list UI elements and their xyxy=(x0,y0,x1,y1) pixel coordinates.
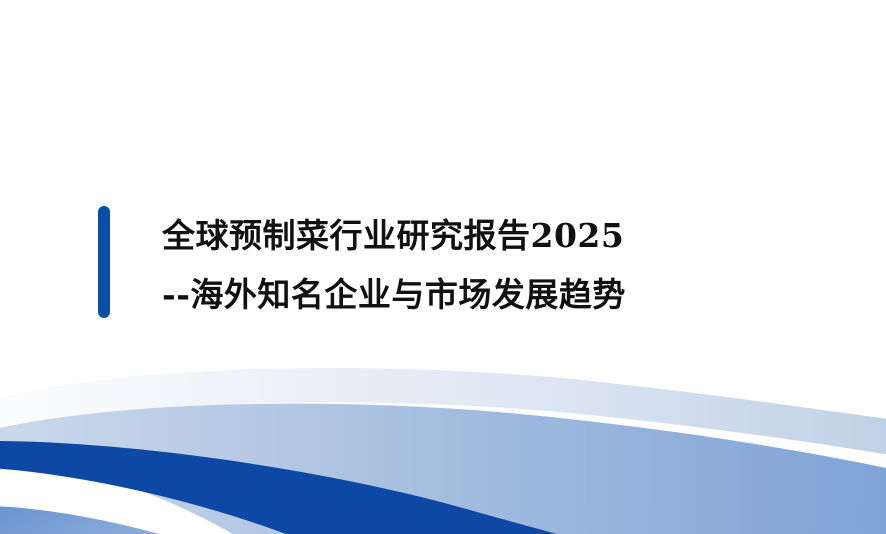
pale-blue-ribbon xyxy=(0,368,886,456)
cornflower-sliver xyxy=(0,506,215,534)
accent-bar xyxy=(98,206,110,318)
slide-title-line-1: 全球预制菜行业研究报告2025 xyxy=(162,206,626,265)
dark-blue-arc xyxy=(0,441,620,534)
medium-blue-ribbon xyxy=(0,404,886,534)
title-text-group: 全球预制菜行业研究报告2025 --海外知名企业与市场发展趋势 xyxy=(162,206,626,324)
title-slide: 全球预制菜行业研究报告2025 --海外知名企业与市场发展趋势 xyxy=(0,0,886,534)
slide-title-line-2: --海外知名企业与市场发展趋势 xyxy=(162,265,626,324)
title-block: 全球预制菜行业研究报告2025 --海外知名企业与市场发展趋势 xyxy=(98,206,626,324)
